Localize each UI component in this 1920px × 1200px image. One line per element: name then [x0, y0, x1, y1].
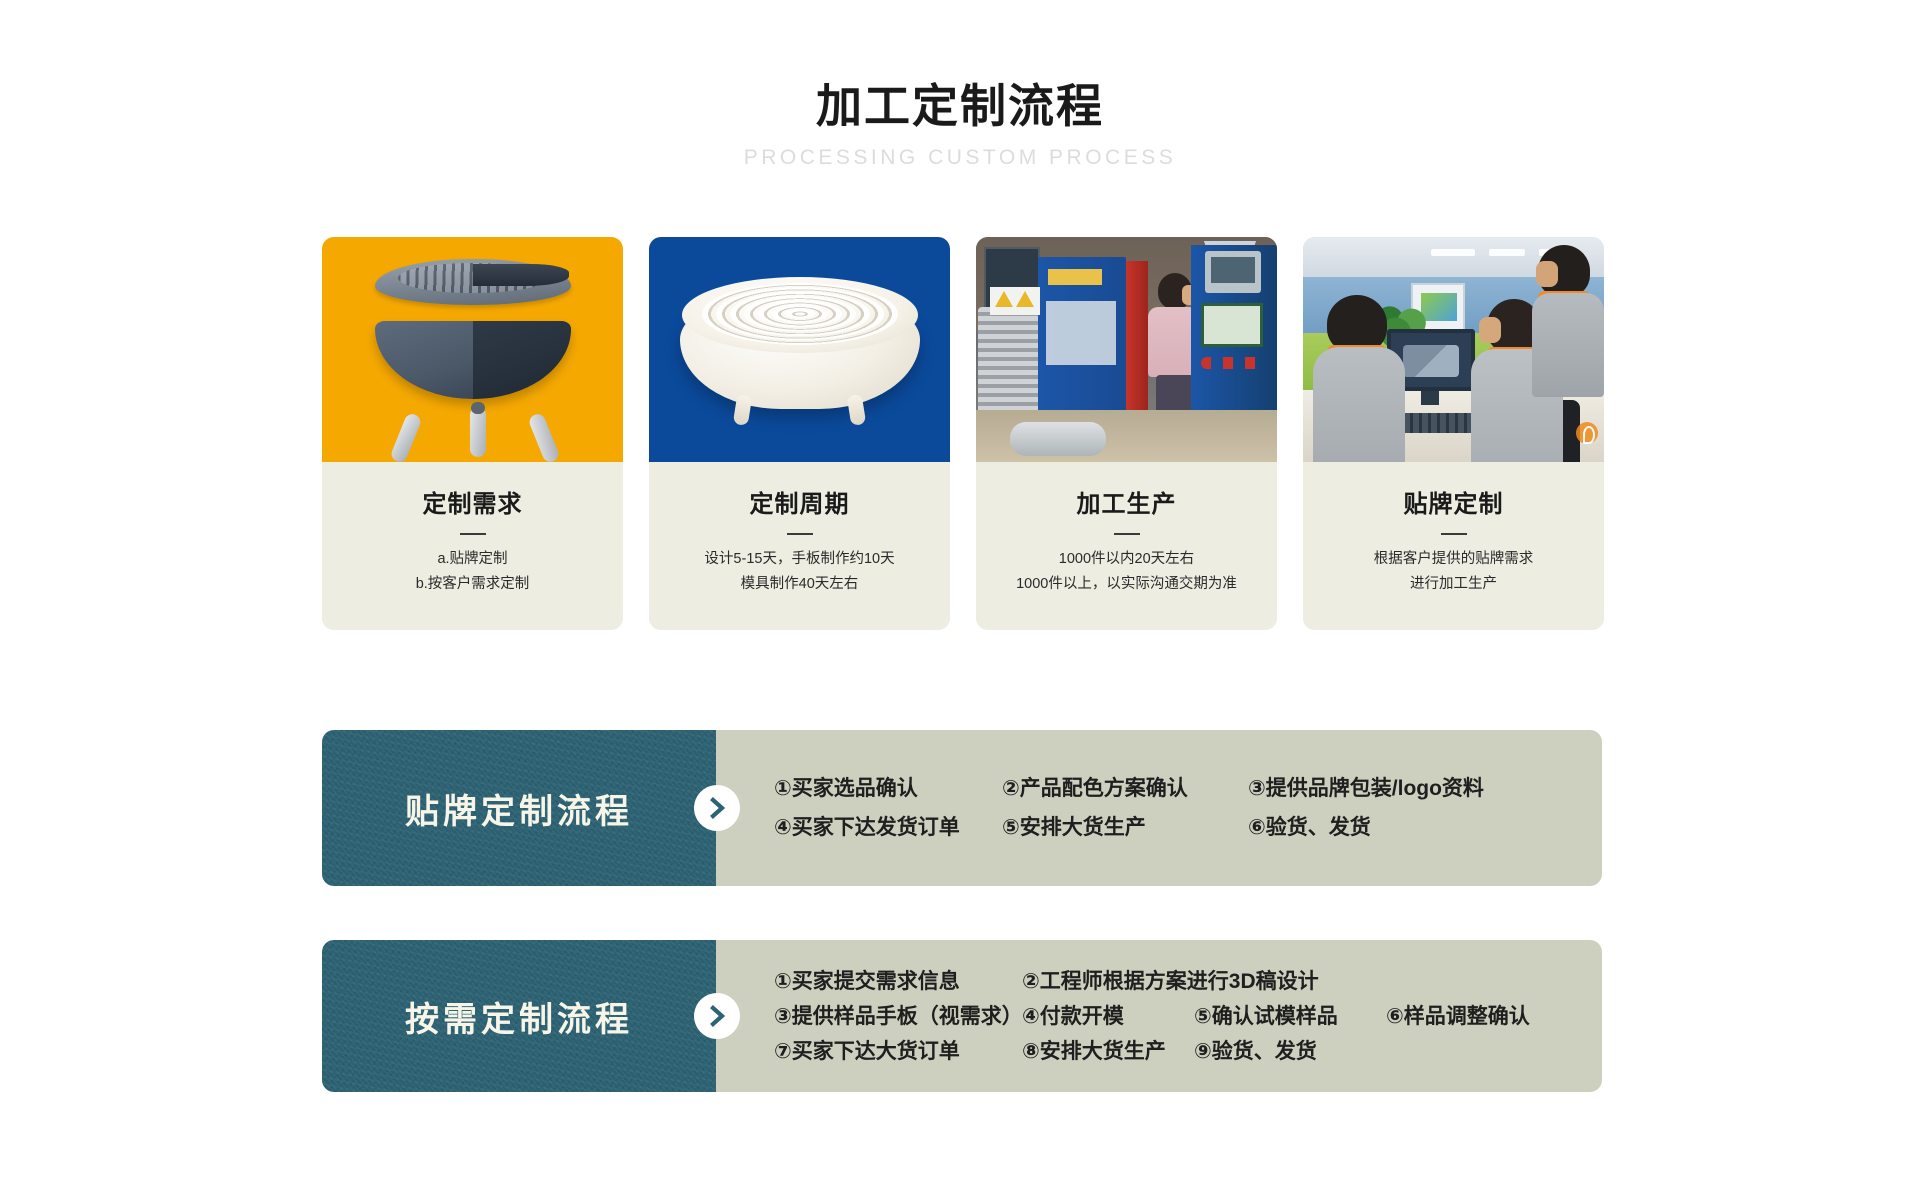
page-root: 加工定制流程 PROCESSING CUSTOM PROCESS 定制需求 [0, 0, 1920, 1200]
card-4-media [1303, 237, 1604, 462]
card-3-body: 加工生产 1000件以内20天左右 1000件以上，以实际沟通交期为准 [976, 462, 1277, 630]
prototype-foot-left-shape [733, 394, 753, 426]
product-leg-right-shape [527, 412, 561, 462]
card-1-desc-line-1: a.贴牌定制 [332, 547, 613, 572]
card-4-divider [1441, 533, 1467, 535]
office-person-right-figure [1532, 245, 1604, 395]
ondemand-process-banner: 按需定制流程 ①买家提交需求信息 ②工程师根据方案进行3D稿设计 ③提供样品手板… [322, 940, 1602, 1092]
ondemand-step-7: ⑦买家下达大货订单 [774, 1041, 1022, 1062]
card-3-title: 加工生产 [986, 484, 1267, 519]
person-right-face-shape [1536, 261, 1558, 287]
product-exploded-view-illustration [322, 237, 623, 462]
office-design-illustration [1303, 237, 1604, 462]
office-ceiling-light-1-shape [1431, 249, 1475, 256]
oem-process-step-row: ①买家选品确认 ②产品配色方案确认 ③提供品牌包装/logo资料 [774, 778, 1602, 799]
oem-process-label-panel: 贴牌定制流程 [322, 730, 716, 886]
product-lid-dark-shape [473, 264, 569, 286]
card-1-divider [460, 533, 486, 535]
page-title: 加工定制流程 [0, 78, 1920, 136]
product-leg-center-shape [470, 407, 486, 457]
factory-warning-sign-icon [990, 287, 1040, 315]
card-3-media [976, 237, 1277, 462]
person-right-body-shape [1532, 293, 1604, 397]
oem-step-4: ④买家下达发货订单 [774, 817, 1002, 838]
card-3-divider [1114, 533, 1140, 535]
watermark-logo-icon [1576, 422, 1598, 444]
person-left-body-shape [1313, 347, 1405, 462]
process-card-2[interactable]: 定制周期 设计5-15天，手板制作约10天 模具制作40天左右 [649, 237, 950, 630]
factory-control-screen-shape [1201, 303, 1263, 347]
card-3-desc-line-2: 1000件以上，以实际沟通交期为准 [986, 572, 1267, 597]
ondemand-process-steps: ①买家提交需求信息 ②工程师根据方案进行3D稿设计 ③提供样品手板（视需求） ④… [716, 940, 1602, 1092]
card-4-desc-line-2: 进行加工生产 [1313, 572, 1594, 597]
ondemand-process-step-row: ⑦买家下达大货订单 ⑧安排大货生产 ⑨验货、发货 [774, 1041, 1602, 1062]
chevron-right-icon [694, 785, 740, 831]
ondemand-step-5: ⑤确认试模样品 [1194, 1006, 1386, 1027]
oem-step-3: ③提供品牌包装/logo资料 [1248, 778, 1484, 799]
card-1-media [322, 237, 623, 462]
card-1-body: 定制需求 a.贴牌定制 b.按客户需求定制 [322, 462, 623, 630]
ondemand-process-step-row: ③提供样品手板（视需求） ④付款开模 ⑤确认试模样品 ⑥样品调整确认 [774, 1006, 1602, 1027]
ondemand-process-step-row: ①买家提交需求信息 ②工程师根据方案进行3D稿设计 [774, 971, 1602, 992]
product-bowl-shape [375, 321, 571, 399]
oem-process-banner: 贴牌定制流程 ①买家选品确认 ②产品配色方案确认 ③提供品牌包装/logo资料 … [322, 730, 1602, 886]
factory-production-illustration [976, 237, 1277, 462]
ondemand-step-9: ⑨验货、发货 [1194, 1041, 1317, 1062]
card-4-desc-line-1: 根据客户提供的贴牌需求 [1313, 547, 1594, 572]
oem-process-step-row: ④买家下达发货订单 ⑤安排大货生产 ⑥验货、发货 [774, 817, 1602, 838]
card-2-media [649, 237, 950, 462]
card-4-title: 贴牌定制 [1313, 484, 1594, 519]
oem-process-steps: ①买家选品确认 ②产品配色方案确认 ③提供品牌包装/logo资料 ④买家下达发货… [716, 730, 1602, 886]
factory-machine-label-shape [1048, 269, 1102, 285]
card-1-title: 定制需求 [332, 484, 613, 519]
ondemand-step-3: ③提供样品手板（视需求） [774, 1006, 1022, 1027]
card-3-desc-line-1: 1000件以内20天左右 [986, 547, 1267, 572]
card-2-desc-line-1: 设计5-15天，手板制作约10天 [659, 547, 940, 572]
ondemand-process-label: 按需定制流程 [405, 992, 633, 1041]
oem-step-1: ①买家选品确认 [774, 778, 1002, 799]
oem-step-6: ⑥验货、发货 [1248, 817, 1371, 838]
process-card-1[interactable]: 定制需求 a.贴牌定制 b.按客户需求定制 [322, 237, 623, 630]
oem-step-5: ⑤安排大货生产 [1002, 817, 1248, 838]
oem-step-2: ②产品配色方案确认 [1002, 778, 1248, 799]
process-cards-row: 定制需求 a.贴牌定制 b.按客户需求定制 定制周期 设计5-15 [322, 237, 1604, 630]
process-card-3[interactable]: 加工生产 1000件以内20天左右 1000件以上，以实际沟通交期为准 [976, 237, 1277, 630]
factory-control-buttons-shape [1201, 357, 1267, 369]
prototype-illustration [649, 237, 950, 462]
ondemand-step-4: ④付款开模 [1022, 1006, 1194, 1027]
ondemand-step-8: ⑧安排大货生产 [1022, 1041, 1194, 1062]
card-2-title: 定制周期 [659, 484, 940, 519]
card-2-desc-line-2: 模具制作40天左右 [659, 572, 940, 597]
prototype-rings-shape [702, 283, 898, 345]
office-ceiling-light-2-shape [1489, 249, 1525, 256]
chevron-right-icon [694, 993, 740, 1039]
ondemand-step-2: ②工程师根据方案进行3D稿设计 [1022, 971, 1319, 992]
ondemand-process-label-panel: 按需定制流程 [322, 940, 716, 1092]
factory-machine-panel-shape [1046, 301, 1116, 365]
card-2-body: 定制周期 设计5-15天，手板制作约10天 模具制作40天左右 [649, 462, 950, 630]
office-person-left-figure [1313, 295, 1405, 462]
oem-process-label: 贴牌定制流程 [405, 784, 633, 833]
card-1-desc-line-2: b.按客户需求定制 [332, 572, 613, 597]
photo-watermark [1576, 422, 1598, 444]
card-4-body: 贴牌定制 根据客户提供的贴牌需求 进行加工生产 [1303, 462, 1604, 630]
office-monitor-stand-shape [1421, 391, 1439, 405]
person-center-face-shape [1479, 317, 1501, 343]
process-card-4[interactable]: 贴牌定制 根据客户提供的贴牌需求 进行加工生产 [1303, 237, 1604, 630]
page-subtitle: PROCESSING CUSTOM PROCESS [0, 146, 1920, 170]
factory-crt-monitor-shape [1205, 251, 1261, 293]
ondemand-step-6: ⑥样品调整确认 [1386, 1006, 1530, 1027]
product-leg-left-shape [389, 412, 423, 462]
ondemand-step-1: ①买家提交需求信息 [774, 971, 1022, 992]
factory-molded-part-shape [1010, 422, 1106, 456]
page-header: 加工定制流程 PROCESSING CUSTOM PROCESS [0, 78, 1920, 170]
card-2-divider [787, 533, 813, 535]
